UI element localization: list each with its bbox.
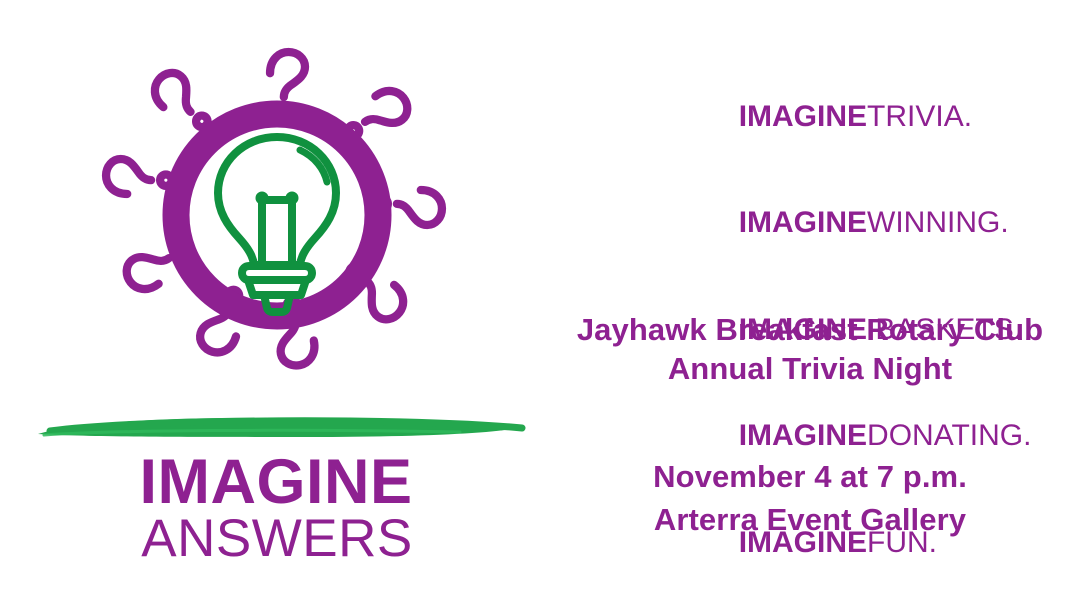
tagline-lead: IMAGINE <box>739 100 867 133</box>
event-title-block: Jayhawk Breakfast Rotary Club Annual Tri… <box>540 310 1080 388</box>
imagine-answers-logo-lockup: IMAGINE ANSWERS <box>0 0 560 608</box>
event-name: Annual Trivia Night <box>540 349 1080 388</box>
tagline-rest: WINNING. <box>867 206 1009 239</box>
tagline-lead: IMAGINE <box>739 419 867 452</box>
tagline-line: IMAGINETRIVIA. <box>672 63 1072 170</box>
tagline-rest: TRIVIA. <box>867 100 972 133</box>
tagline-line: IMAGINEWINNING. <box>672 170 1072 277</box>
event-details-block: November 4 at 7 p.m. Arterra Event Galle… <box>540 455 1080 541</box>
tagline-lead: IMAGINE <box>739 206 867 239</box>
lightbulb-question-marks-mark <box>72 12 492 412</box>
green-brush-underline <box>30 404 540 450</box>
event-poster: IMAGINE ANSWERS IMAGINETRIVIA. IMAGINEWI… <box>0 0 1080 608</box>
tagline-rest: DONATING. <box>867 419 1031 452</box>
event-organizer-name: Jayhawk Breakfast Rotary Club <box>540 310 1080 349</box>
event-date-time: November 4 at 7 p.m. <box>540 455 1080 498</box>
lightbulb-icon <box>218 137 336 312</box>
wordmark-imagine: IMAGINE <box>0 452 560 512</box>
copy-column: IMAGINETRIVIA. IMAGINEWINNING. IMAGINE B… <box>540 0 1080 608</box>
purple-ring <box>176 114 378 316</box>
wordmark-answers: ANSWERS <box>0 512 560 566</box>
event-venue: Arterra Event Gallery <box>540 498 1080 541</box>
imagine-answers-wordmark: IMAGINE ANSWERS <box>0 452 560 567</box>
question-mark-icon <box>106 159 172 194</box>
